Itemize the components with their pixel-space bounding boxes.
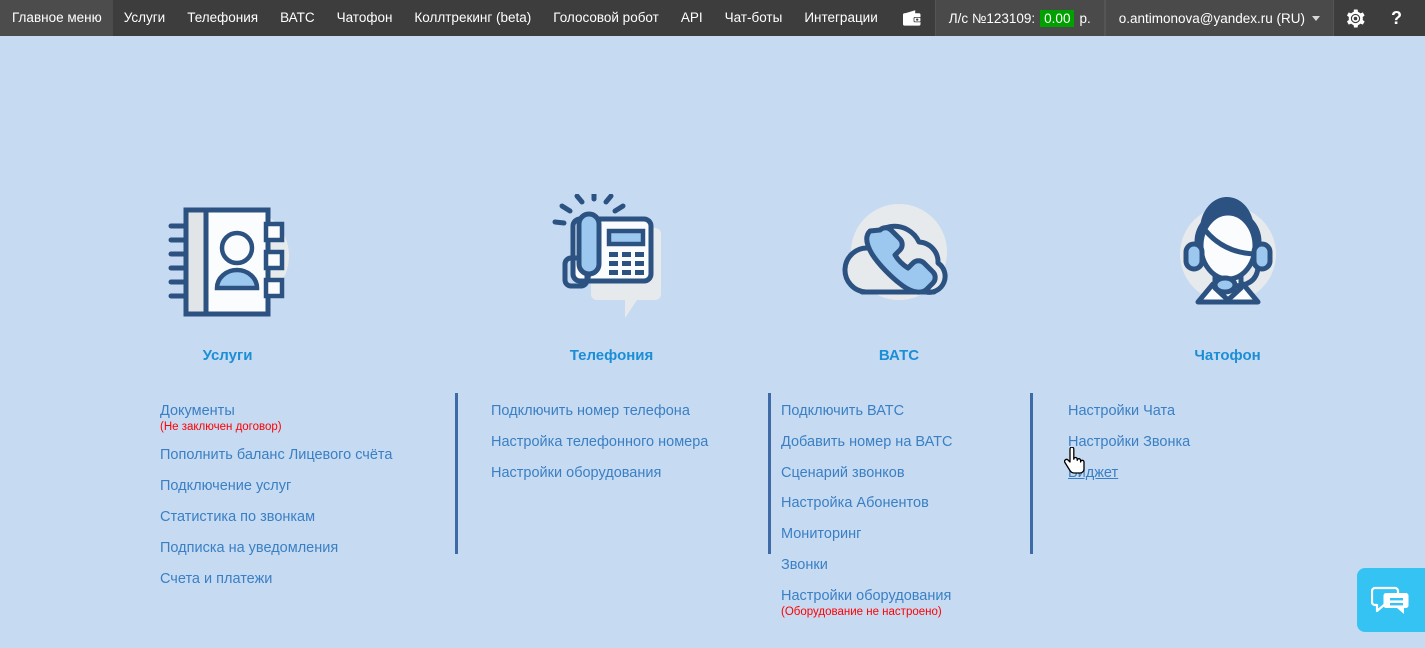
link-row: Добавить номер на ВАТС — [781, 434, 952, 451]
link-row: Подключить номер телефона — [491, 403, 690, 420]
link-list-vats: Подключить ВАТС Добавить номер на ВАТС С… — [768, 403, 1030, 618]
column-title-vats[interactable]: ВАТС — [879, 348, 919, 363]
nav-item-calltracking[interactable]: Коллтрекинг (beta) — [403, 0, 542, 36]
balance-currency: р. — [1079, 11, 1090, 26]
link-equipment-settings-telephony[interactable]: Настройки оборудования — [491, 466, 661, 481]
account-balance-panel[interactable]: Л/с №123109: 0.00 р. — [935, 0, 1105, 36]
link-subscribers-settings[interactable]: Настройка Абонентов — [781, 496, 929, 511]
link-chat-settings[interactable]: Настройки Чата — [1068, 404, 1175, 419]
link-row: Подписка на уведомления — [160, 540, 338, 557]
link-row: Пополнить баланс Лицевого счёта — [160, 447, 392, 464]
nav-item-voice-robot[interactable]: Голосовой робот — [542, 0, 670, 36]
link-notifications-subscription[interactable]: Подписка на уведомления — [160, 541, 338, 556]
chat-bubbles-icon — [1371, 582, 1411, 618]
link-row: Настройки Чата — [1068, 403, 1175, 420]
gear-icon[interactable] — [1334, 0, 1377, 36]
column-services: Услуги Документы (Не заключен договор) П… — [0, 36, 455, 618]
link-row: Виджет — [1068, 465, 1118, 482]
link-row: Звонки — [781, 557, 828, 574]
link-topup-balance[interactable]: Пополнить баланс Лицевого счёта — [160, 448, 392, 463]
nav-item-chatophone[interactable]: Чатофон — [326, 0, 404, 36]
nav-item-vats[interactable]: ВАТС — [269, 0, 326, 36]
link-row: Статистика по звонкам — [160, 509, 315, 526]
logout-button[interactable]: Выход — [1416, 0, 1425, 36]
column-divider — [768, 393, 771, 554]
main-content: Услуги Документы (Не заключен договор) П… — [0, 36, 1425, 648]
nav-item-chatbots[interactable]: Чат-боты — [714, 0, 794, 36]
link-equipment-settings-vats[interactable]: Настройки оборудования — [781, 589, 951, 604]
link-connect-phone-number[interactable]: Подключить номер телефона — [491, 404, 690, 419]
account-email: o.antimonova@yandex.ru (RU) — [1119, 11, 1305, 26]
desk-phone-icon[interactable] — [537, 196, 687, 336]
link-row: Документы (Не заключен договор) — [160, 403, 282, 433]
link-calls[interactable]: Звонки — [781, 558, 828, 573]
chevron-down-icon — [1312, 16, 1320, 21]
link-configure-phone-number[interactable]: Настройка телефонного номера — [491, 435, 708, 450]
column-chatophone: Чатофон Настройки Чата Настройки Звонка … — [1030, 36, 1425, 618]
column-title-services[interactable]: Услуги — [203, 348, 253, 363]
link-documents[interactable]: Документы — [160, 404, 235, 419]
link-widget[interactable]: Виджет — [1068, 466, 1118, 481]
link-call-scenario[interactable]: Сценарий звонков — [781, 466, 905, 481]
column-title-chatophone[interactable]: Чатофон — [1194, 348, 1260, 363]
column-vats: ВАТС Подключить ВАТС Добавить номер на В… — [768, 36, 1030, 618]
nav-item-telephony[interactable]: Телефония — [176, 0, 269, 36]
top-navigation-bar: Главное меню Услуги Телефония ВАТС Чатоф… — [0, 0, 1425, 36]
link-row: Настройки оборудования (Оборудование не … — [781, 588, 951, 618]
link-row: Подключение услуг — [160, 478, 291, 495]
link-row: Мониторинг — [781, 526, 861, 543]
column-divider — [455, 393, 458, 554]
nav-item-services[interactable]: Услуги — [113, 0, 177, 36]
link-row: Настройка Абонентов — [781, 495, 929, 512]
link-monitoring[interactable]: Мониторинг — [781, 527, 861, 542]
link-list-chatophone: Настройки Чата Настройки Звонка Виджет — [1030, 403, 1425, 481]
column-title-telephony[interactable]: Телефония — [570, 348, 654, 363]
chat-widget-button[interactable] — [1357, 568, 1425, 632]
link-connect-services[interactable]: Подключение услуг — [160, 479, 291, 494]
link-call-statistics[interactable]: Статистика по звонкам — [160, 510, 315, 525]
svg-text:?: ? — [1391, 8, 1402, 28]
nav-item-main-menu[interactable]: Главное меню — [0, 0, 113, 36]
column-divider — [1030, 393, 1033, 554]
link-invoices-payments[interactable]: Счета и платежи — [160, 572, 272, 587]
link-row: Сценарий звонков — [781, 465, 905, 482]
question-mark-icon[interactable]: ? — [1377, 0, 1416, 36]
link-call-settings[interactable]: Настройки Звонка — [1068, 435, 1190, 450]
link-row: Подключить ВАТС — [781, 403, 904, 420]
headset-operator-icon[interactable] — [1153, 196, 1303, 336]
address-book-icon[interactable] — [153, 196, 303, 336]
link-row: Счета и платежи — [160, 571, 272, 588]
link-list-services: Документы (Не заключен договор) Пополнит… — [0, 403, 455, 587]
link-row: Настройки Звонка — [1068, 434, 1190, 451]
link-connect-vats[interactable]: Подключить ВАТС — [781, 404, 904, 419]
nav-item-integrations[interactable]: Интеграции — [793, 0, 888, 36]
wallet-icon[interactable] — [889, 0, 935, 36]
nav-item-api[interactable]: API — [670, 0, 714, 36]
account-dropdown[interactable]: o.antimonova@yandex.ru (RU) — [1105, 0, 1334, 36]
link-note-documents: (Не заключен договор) — [160, 421, 282, 434]
link-row: Настройка телефонного номера — [491, 434, 708, 451]
link-note-equipment: (Оборудование не настроено) — [781, 606, 951, 619]
column-telephony: Телефония Подключить номер телефона Наст… — [455, 36, 768, 618]
link-list-telephony: Подключить номер телефона Настройка теле… — [455, 403, 768, 481]
link-row: Настройки оборудования — [491, 465, 661, 482]
link-add-number-vats[interactable]: Добавить номер на ВАТС — [781, 435, 952, 450]
dashboard-columns: Услуги Документы (Не заключен договор) П… — [0, 36, 1425, 618]
balance-label: Л/с №123109: — [949, 11, 1035, 26]
balance-amount: 0.00 — [1040, 10, 1074, 27]
cloud-phone-icon[interactable] — [824, 196, 974, 336]
